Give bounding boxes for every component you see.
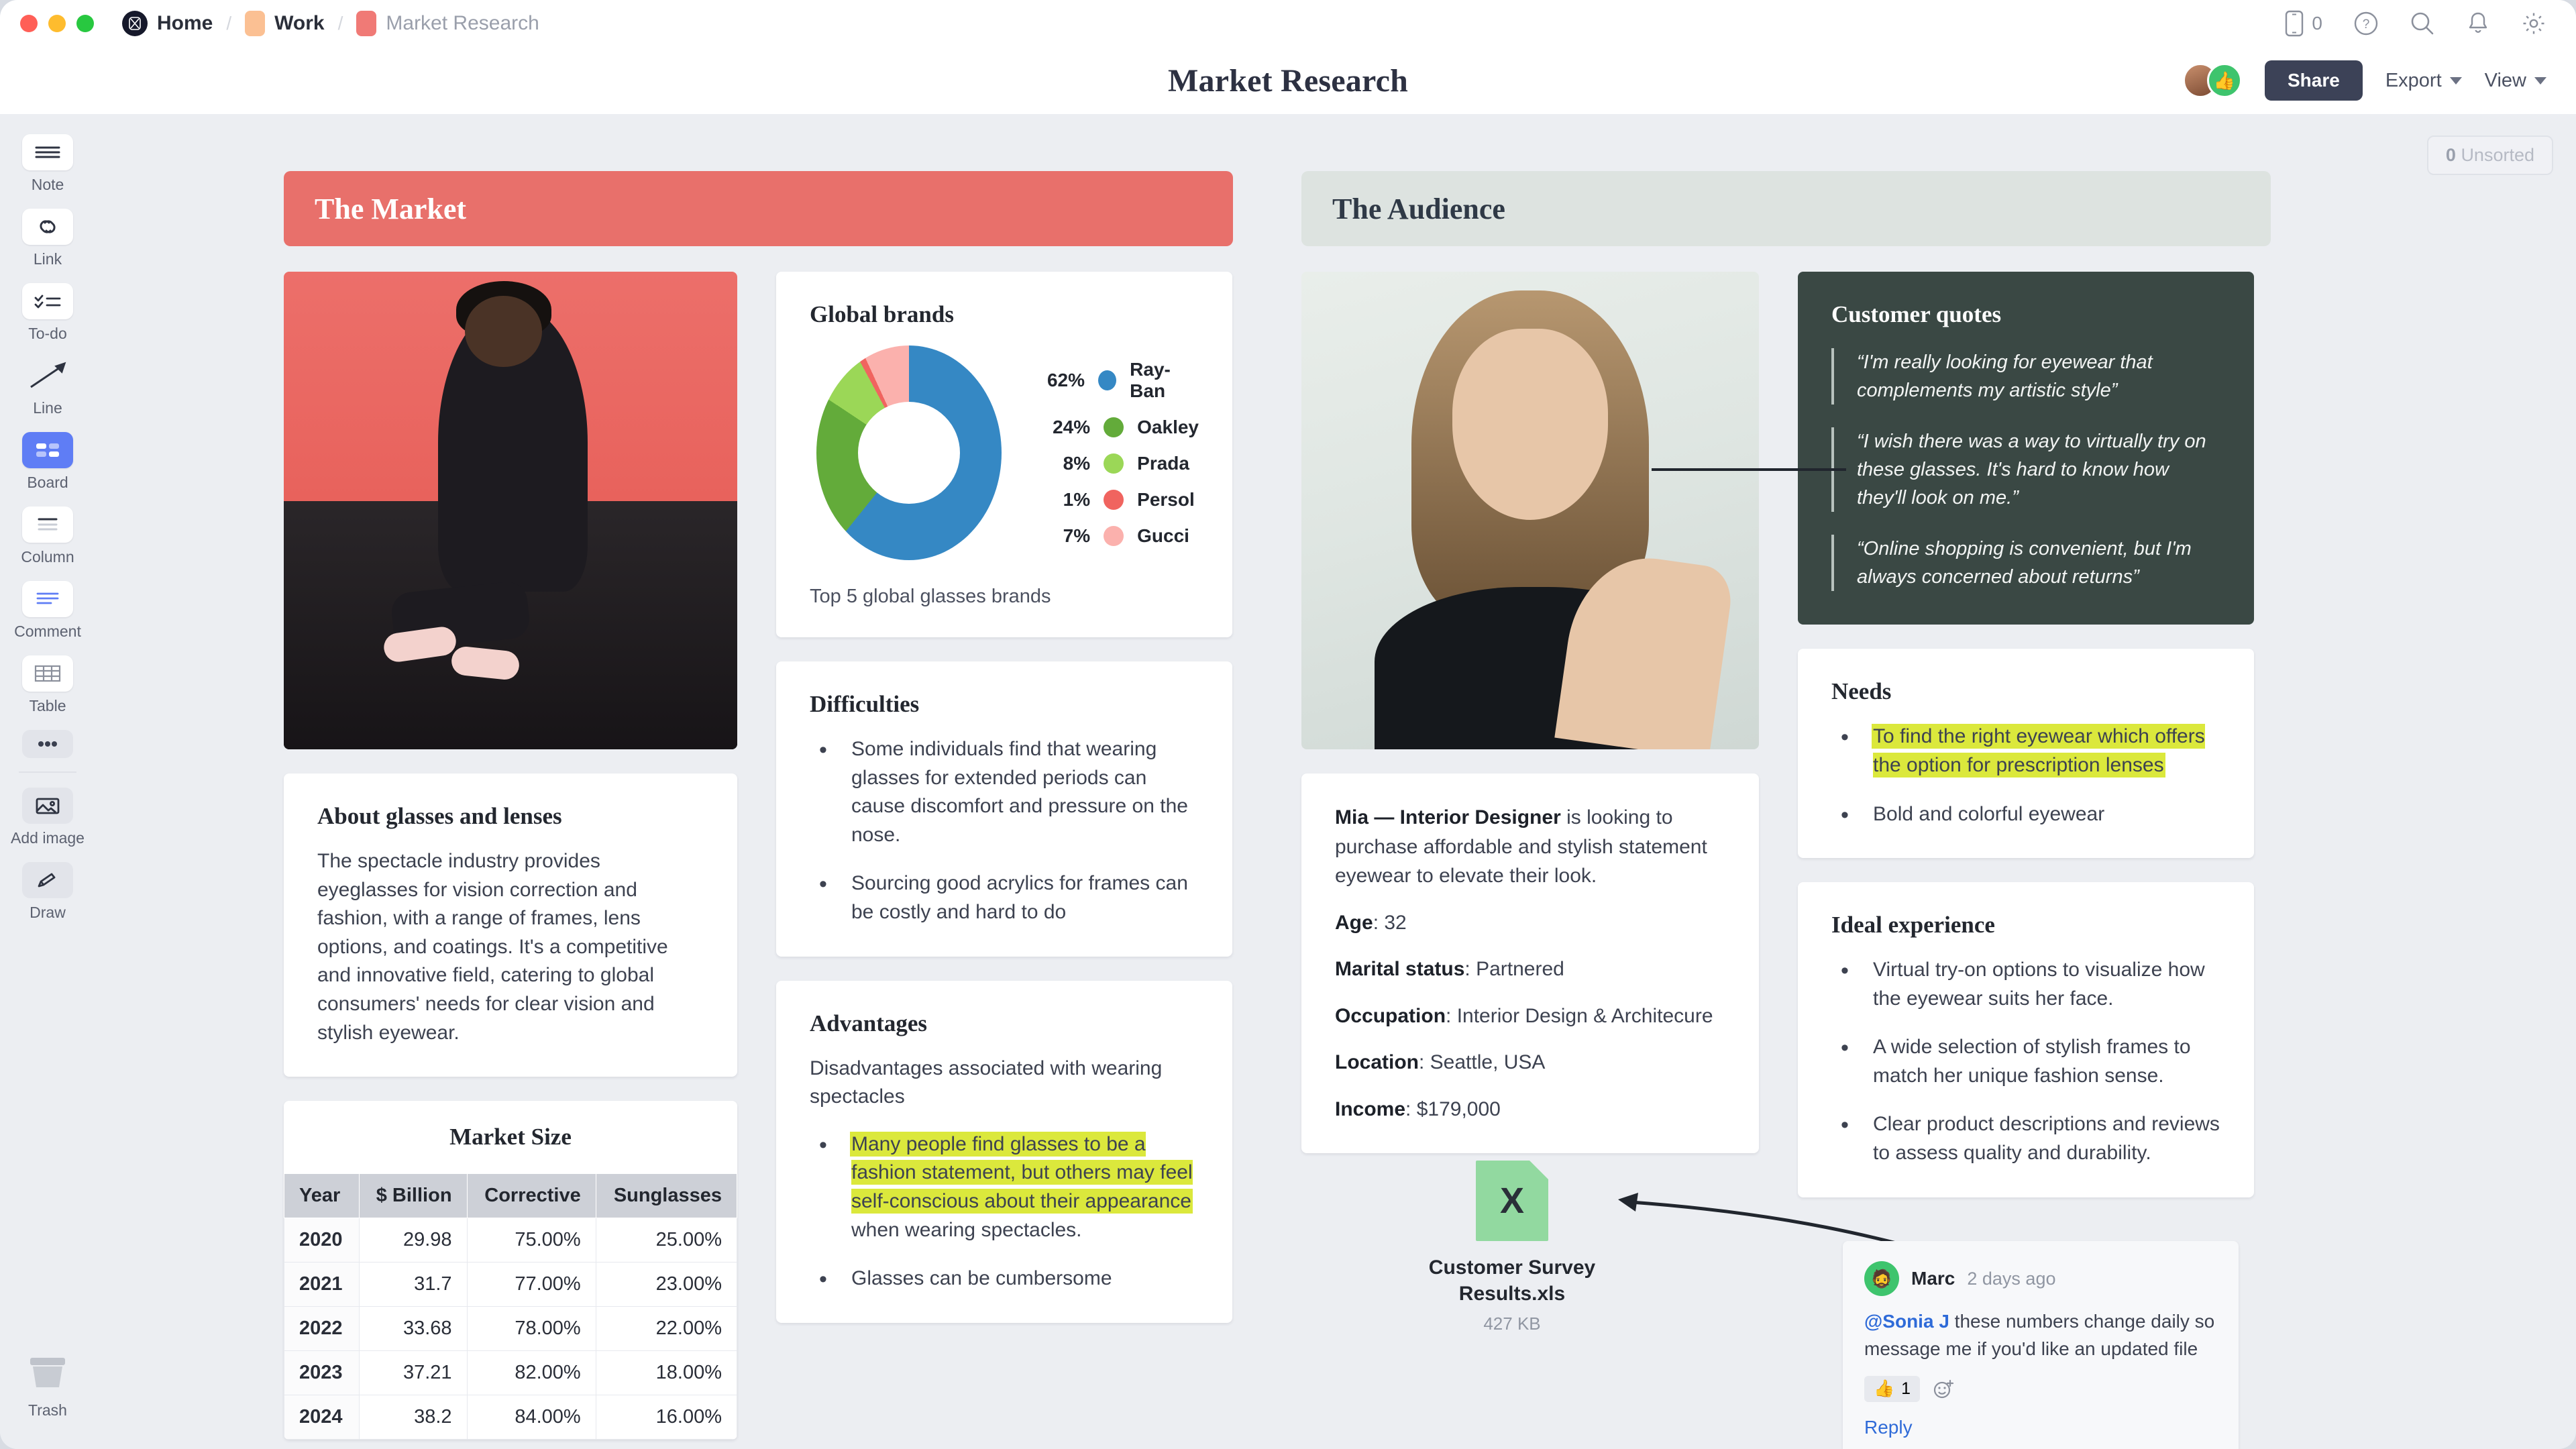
legend-swatch-icon <box>1104 526 1124 546</box>
quote-item: “I'm really looking for eyewear that com… <box>1831 348 2220 405</box>
unsorted-label: Unsorted <box>2461 145 2534 165</box>
table-cell: 2020 <box>284 1218 360 1263</box>
column-icon <box>22 506 73 543</box>
tool-label: Note <box>32 176 64 194</box>
tool-label: Add image <box>11 829 85 847</box>
table-cell: 25.00% <box>596 1218 737 1263</box>
trash-icon <box>23 1352 72 1396</box>
tool-column[interactable]: Column <box>11 506 85 566</box>
legend-value: 1% <box>1032 489 1090 511</box>
table-cell: 23.00% <box>596 1263 737 1307</box>
card-global-brands-chart[interactable]: Global brands 62% Ray-Ban 24% <box>776 272 1232 637</box>
chevron-down-icon <box>2450 77 2462 85</box>
window-traffic-lights <box>20 15 94 32</box>
card-needs[interactable]: Needs To find the right eyewear which of… <box>1798 649 2254 858</box>
list-item: Sourcing good acrylics for frames can be… <box>810 869 1199 926</box>
breadcrumb-separator: / <box>217 13 241 34</box>
close-window-button[interactable] <box>20 15 38 32</box>
device-count-label: 0 <box>2312 13 2322 34</box>
quote-text: “I'm really looking for eyewear that com… <box>1857 348 2220 405</box>
legend-swatch-icon <box>1104 417 1124 437</box>
gear-icon[interactable] <box>2521 11 2546 36</box>
search-icon[interactable] <box>2410 11 2435 36</box>
card-title: Advantages <box>810 1010 1199 1037</box>
device-icon <box>2285 10 2304 37</box>
export-menu-button[interactable]: Export <box>2385 70 2462 92</box>
card-market-size-table[interactable]: Market Size Year $ Billion Corrective Su… <box>284 1101 737 1440</box>
comment-header: 🧔 Marc 2 days ago <box>1864 1261 2217 1296</box>
table-header-cell: Year <box>284 1174 360 1218</box>
table-cell: 37.21 <box>359 1351 467 1395</box>
tool-label: Column <box>21 548 74 566</box>
orange-square-icon <box>245 11 265 36</box>
legend-item[interactable]: 24% Oakley <box>1032 417 1199 438</box>
app-window: Home / Work / Market Research 0 ? <box>0 0 2576 1449</box>
table-row[interactable]: 2020 29.98 75.00% 25.00% <box>284 1218 737 1263</box>
chart-title: Global brands <box>810 301 1199 328</box>
comment-mention[interactable]: @Sonia J <box>1864 1311 1949 1332</box>
file-icon-letter: X <box>1500 1180 1524 1222</box>
tool-label: Line <box>33 399 62 417</box>
card-title: Ideal experience <box>1831 912 2220 938</box>
table-cell: 82.00% <box>467 1351 596 1395</box>
audience-subcolumn-left: Mia — Interior Designer is looking to pu… <box>1301 272 1759 1153</box>
tool-board[interactable]: Board <box>11 432 85 492</box>
legend-item[interactable]: 62% Ray-Ban <box>1032 359 1199 402</box>
table-cell: 16.00% <box>596 1395 737 1440</box>
view-label: View <box>2485 70 2526 92</box>
persona-field-marital-status: Marital status: Partnered <box>1335 955 1725 984</box>
comment-author: Marc <box>1911 1268 1955 1289</box>
card-title: Customer quotes <box>1831 301 2220 328</box>
table-cell: 33.68 <box>359 1307 467 1351</box>
tool-line[interactable]: Line <box>11 358 85 417</box>
board-icon <box>22 432 73 468</box>
table-icon <box>22 655 73 692</box>
tool-table[interactable]: Table <box>11 655 85 715</box>
tool-add-image[interactable]: Add image <box>11 788 85 847</box>
list-item: Some individuals find that wearing glass… <box>810 735 1199 849</box>
field-label: Age <box>1335 912 1373 934</box>
market-subcolumn-left: About glasses and lenses The spectacle i… <box>284 272 737 1440</box>
donut-chart: 62% Ray-Ban 24% Oakley <box>810 345 1199 560</box>
red-square-icon <box>356 11 376 36</box>
breadcrumb-separator: / <box>329 13 353 34</box>
toolbar-divider <box>19 771 76 773</box>
table-cell: 29.98 <box>359 1218 467 1263</box>
trash-label: Trash <box>28 1401 67 1419</box>
persona-name: Mia — Interior Designer <box>1335 806 1561 828</box>
field-value: 32 <box>1384 912 1406 934</box>
card-about-glasses[interactable]: About glasses and lenses The spectacle i… <box>284 773 737 1077</box>
chrome-actions: 0 ? <box>2285 10 2546 37</box>
persona-field-age: Age: 32 <box>1335 908 1725 938</box>
field-label: Occupation <box>1335 1005 1446 1027</box>
table-header-cell: Sunglasses <box>596 1174 737 1218</box>
photo-portrait-model[interactable] <box>1301 272 1759 749</box>
list-item: Bold and colorful eyewear <box>1831 800 2220 829</box>
help-icon[interactable]: ? <box>2353 11 2379 36</box>
field-value: $179,000 <box>1417 1098 1501 1120</box>
tool-todo[interactable]: To-do <box>11 283 85 343</box>
legend-value: 7% <box>1032 525 1090 547</box>
board-canvas[interactable]: 0 Unsorted The Market <box>95 114 2576 1449</box>
column-the-audience: The Audience Mia — Interior Designer is … <box>1301 171 2271 1197</box>
comment-card[interactable]: 🧔 Marc 2 days ago @Sonia J these numbers… <box>1843 1241 2239 1449</box>
section-banner-audience[interactable]: The Audience <box>1301 171 2271 246</box>
legend-label: Prada <box>1137 453 1189 474</box>
add-reaction-icon[interactable] <box>1932 1378 1955 1401</box>
reaction-thumbs-up[interactable]: 👍 1 <box>1864 1376 1920 1402</box>
persona-field-occupation: Occupation: Interior Design & Architecur… <box>1335 1002 1725 1031</box>
persona-intro: Mia — Interior Designer is looking to pu… <box>1335 803 1725 891</box>
tool-draw[interactable]: Draw <box>11 862 85 922</box>
chart-caption: Top 5 global glasses brands <box>810 586 1199 608</box>
field-label: Marital status <box>1335 958 1464 980</box>
breadcrumb-label-market-research: Market Research <box>386 12 539 35</box>
table-cell: 22.00% <box>596 1307 737 1351</box>
quote-item: “I wish there was a way to virtually try… <box>1831 427 2220 512</box>
table-row[interactable]: 2023 37.21 82.00% 18.00% <box>284 1351 737 1395</box>
audience-subcolumn-right: Customer quotes “I'm really looking for … <box>1798 272 2254 1197</box>
table-header-row: Year $ Billion Corrective Sunglasses <box>284 1174 737 1218</box>
market-subcolumn-right: Global brands 62% Ray-Ban 24% <box>776 272 1232 1323</box>
field-value: Seattle, USA <box>1430 1051 1546 1073</box>
avatar[interactable]: 👍 <box>2207 63 2242 98</box>
bell-icon[interactable] <box>2466 11 2490 36</box>
highlighted-text: Many people find glasses to be a fashion… <box>851 1133 1193 1212</box>
card-persona-mia[interactable]: Mia — Interior Designer is looking to pu… <box>1301 773 1759 1153</box>
table-cell: 84.00% <box>467 1395 596 1440</box>
legend-value: 62% <box>1032 370 1085 391</box>
file-name: Customer Survey Results.xls <box>1425 1254 1599 1307</box>
quote-text: “I wish there was a way to virtually try… <box>1857 427 2220 512</box>
photo-face-shape <box>1452 329 1608 520</box>
list-item: Clear product descriptions and reviews t… <box>1831 1110 2220 1167</box>
legend-label: Gucci <box>1137 525 1189 547</box>
field-value: Interior Design & Architecure <box>1457 1005 1713 1027</box>
list-item: To find the right eyewear which offers t… <box>1831 722 2220 780</box>
tool-label: Table <box>30 697 66 715</box>
breadcrumb-label-home: Home <box>157 12 213 35</box>
note-icon <box>22 134 73 170</box>
left-toolbar: Note Link To-do Line Board <box>0 114 95 1449</box>
table-row[interactable]: 2021 31.7 77.00% 23.00% <box>284 1263 737 1307</box>
breadcrumb-item-market-research[interactable]: Market Research <box>352 11 543 36</box>
collaborator-avatars: 👍 <box>2183 63 2242 98</box>
breadcrumb-item-home[interactable]: Home <box>118 11 217 36</box>
device-preview-button[interactable]: 0 <box>2285 10 2322 37</box>
comment-body: @Sonia J these numbers change daily so m… <box>1864 1308 2217 1362</box>
card-advantages[interactable]: Advantages Disadvantages associated with… <box>776 981 1232 1323</box>
legend-label: Ray-Ban <box>1130 359 1199 402</box>
thumbs-up-icon: 👍 <box>1874 1379 1894 1399</box>
document-title-bar: Market Research 👍 Share Export View <box>0 47 2576 114</box>
photo-woman-on-couch[interactable] <box>284 272 737 749</box>
list-item: Many people find glasses to be a fashion… <box>810 1130 1199 1244</box>
unsorted-badge[interactable]: 0 Unsorted <box>2427 136 2553 175</box>
legend-swatch-icon <box>1104 490 1124 510</box>
pencil-icon <box>22 862 73 898</box>
breadcrumb-item-work[interactable]: Work <box>241 11 328 36</box>
card-ideal-experience[interactable]: Ideal experience Virtual try-on options … <box>1798 882 2254 1197</box>
comment-icon <box>22 581 73 617</box>
list-item: A wide selection of stylish frames to ma… <box>1831 1033 2220 1090</box>
tool-link[interactable]: Link <box>11 209 85 268</box>
legend-item[interactable]: 1% Persol <box>1032 489 1199 511</box>
column-the-market: The Market About glasses and lenses <box>284 171 1233 1440</box>
donut-ring[interactable] <box>816 345 1002 560</box>
table-cell: 2024 <box>284 1395 360 1440</box>
legend-label: Oakley <box>1137 417 1199 438</box>
section-banner-market[interactable]: The Market <box>284 171 1233 246</box>
unsorted-count: 0 <box>2446 145 2456 165</box>
table-cell: 77.00% <box>467 1263 596 1307</box>
comment-reactions: 👍 1 <box>1864 1376 2217 1402</box>
tool-label: Draw <box>30 904 66 922</box>
table-title: Market Size <box>284 1101 737 1173</box>
table-cell: 2021 <box>284 1263 360 1307</box>
reaction-count: 1 <box>1901 1379 1911 1399</box>
legend-label: Persol <box>1137 489 1195 511</box>
advantages-intro: Disadvantages associated with wearing sp… <box>810 1055 1199 1112</box>
table-cell: 2023 <box>284 1351 360 1395</box>
reply-link[interactable]: Reply <box>1864 1417 2217 1438</box>
table-cell: 75.00% <box>467 1218 596 1263</box>
quote-text: “Online shopping is convenient, but I'm … <box>1857 535 2220 591</box>
quote-item: “Online shopping is convenient, but I'm … <box>1831 535 2220 591</box>
tool-label: Comment <box>14 623 81 641</box>
table-row[interactable]: 2024 38.2 84.00% 16.00% <box>284 1395 737 1440</box>
market-size-table: Year $ Billion Corrective Sunglasses 202… <box>284 1173 737 1440</box>
list-item-rest: when wearing spectacles. <box>851 1219 1082 1241</box>
legend-swatch-icon <box>1104 453 1124 474</box>
table-cell: 78.00% <box>467 1307 596 1351</box>
tool-more[interactable] <box>11 730 85 758</box>
xls-file-icon: X <box>1476 1161 1548 1241</box>
legend-value: 24% <box>1032 417 1090 438</box>
legend-swatch-icon <box>1098 370 1116 390</box>
field-value: Partnered <box>1476 958 1564 980</box>
list-item: Virtual try-on options to visualize how … <box>1831 956 2220 1013</box>
needs-list: To find the right eyewear which offers t… <box>1831 722 2220 828</box>
highlighted-text: To find the right eyewear which offers t… <box>1873 725 2205 776</box>
page-title: Market Research <box>1168 62 1408 99</box>
ideal-experience-list: Virtual try-on options to visualize how … <box>1831 956 2220 1168</box>
persona-field-location: Location: Seattle, USA <box>1335 1048 1725 1077</box>
table-cell: 2022 <box>284 1307 360 1351</box>
tool-note[interactable]: Note <box>11 134 85 194</box>
legend-value: 8% <box>1032 453 1090 474</box>
breadcrumb-label-work: Work <box>274 12 324 35</box>
todo-icon <box>22 283 73 319</box>
card-title: About glasses and lenses <box>317 803 704 830</box>
persona-field-income: Income: $179,000 <box>1335 1095 1725 1124</box>
advantages-list: Many people find glasses to be a fashion… <box>810 1130 1199 1293</box>
link-icon <box>22 209 73 245</box>
window-chrome-bar: Home / Work / Market Research 0 ? <box>0 0 2576 47</box>
breadcrumb: Home / Work / Market Research <box>118 11 543 36</box>
tool-label: Board <box>27 474 68 492</box>
table-cell: 38.2 <box>359 1395 467 1440</box>
card-difficulties[interactable]: Difficulties Some individuals find that … <box>776 661 1232 957</box>
table-header-cell: Corrective <box>467 1174 596 1218</box>
image-icon <box>22 788 73 824</box>
chevron-down-icon <box>2534 77 2546 85</box>
svg-text:?: ? <box>2363 17 2370 32</box>
table-cell: 18.00% <box>596 1351 737 1395</box>
app-logo-icon <box>122 11 148 36</box>
minimize-window-button[interactable] <box>48 15 66 32</box>
trash-button[interactable]: Trash <box>23 1352 72 1419</box>
field-label: Income <box>1335 1098 1405 1120</box>
file-attachment-customer-survey[interactable]: X Customer Survey Results.xls 427 KB <box>1425 1161 1599 1334</box>
view-menu-button[interactable]: View <box>2485 70 2546 92</box>
card-customer-quotes[interactable]: Customer quotes “I'm really looking for … <box>1798 272 2254 625</box>
export-label: Export <box>2385 70 2442 92</box>
document-actions: 👍 Share Export View <box>2183 60 2546 101</box>
list-item: Glasses can be cumbersome <box>810 1265 1199 1293</box>
maximize-window-button[interactable] <box>76 15 94 32</box>
audience-row: Mia — Interior Designer is looking to pu… <box>1301 272 2271 1197</box>
card-body: The spectacle industry provides eyeglass… <box>317 847 704 1047</box>
card-title: Difficulties <box>810 691 1199 718</box>
file-size: 427 KB <box>1483 1313 1540 1334</box>
legend-item[interactable]: 7% Gucci <box>1032 525 1199 547</box>
legend-item[interactable]: 8% Prada <box>1032 453 1199 474</box>
tool-label: To-do <box>28 325 67 343</box>
share-button[interactable]: Share <box>2265 60 2363 101</box>
more-icon <box>22 730 73 758</box>
table-row[interactable]: 2022 33.68 78.00% 22.00% <box>284 1307 737 1351</box>
photo-head-shape <box>465 296 542 368</box>
avatar[interactable]: 🧔 <box>1864 1261 1899 1296</box>
line-icon <box>22 358 73 394</box>
tool-comment[interactable]: Comment <box>11 581 85 641</box>
chart-legend: 62% Ray-Ban 24% Oakley <box>1032 359 1199 547</box>
table-header-cell: $ Billion <box>359 1174 467 1218</box>
tool-label: Link <box>34 250 62 268</box>
market-row: About glasses and lenses The spectacle i… <box>284 272 1233 1440</box>
difficulties-list: Some individuals find that wearing glass… <box>810 735 1199 927</box>
card-title: Needs <box>1831 678 2220 705</box>
comment-timestamp: 2 days ago <box>1967 1269 2055 1289</box>
table-cell: 31.7 <box>359 1263 467 1307</box>
field-label: Location <box>1335 1051 1419 1073</box>
